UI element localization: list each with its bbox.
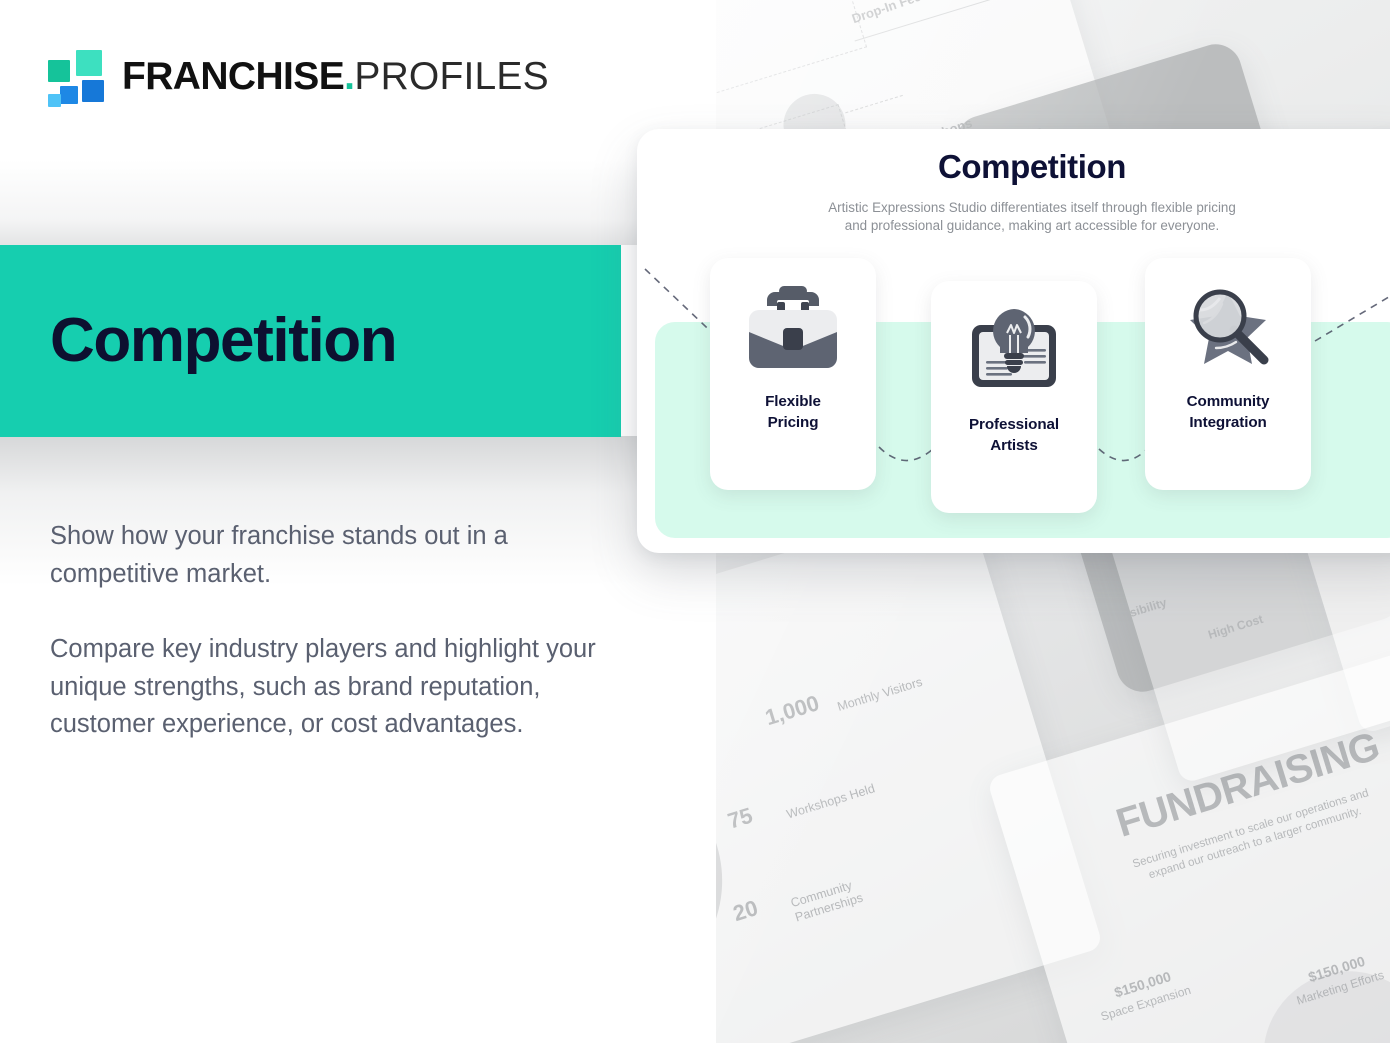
section-banner: Competition — [0, 245, 621, 437]
banner-top-shadow — [0, 160, 716, 245]
feature-label: Professional Artists — [955, 414, 1073, 456]
description-block: Show how your franchise stands out in a … — [50, 518, 620, 744]
ghost-label: High Cost — [1206, 612, 1264, 642]
feature-label: Flexible Pricing — [739, 391, 847, 433]
square-teal-small — [48, 60, 70, 82]
briefcase-icon — [741, 280, 845, 381]
brand-name-light: PROFILES — [354, 57, 549, 96]
feature-card-professional-artists[interactable]: Professional Artists — [931, 281, 1097, 513]
lightbulb-board-icon — [962, 303, 1066, 404]
preview-subtitle: Artistic Expressions Studio differentiat… — [817, 199, 1247, 234]
preview-title: Competition — [637, 148, 1390, 186]
brand-logo: FRANCHISE.PROFILES — [48, 45, 549, 107]
brand-name-bold: FRANCHISE — [122, 57, 344, 96]
feature-card-flexible-pricing[interactable]: Flexible Pricing — [710, 258, 876, 490]
square-blue-large — [82, 80, 104, 102]
ghost-stat-label: Monthly Visitors — [836, 675, 924, 714]
ghost-stat-label: Workshops Held — [785, 781, 877, 821]
feature-card-community-integration[interactable]: Community Integration — [1145, 258, 1311, 490]
ghost-label: Drop-In Fees — [850, 0, 930, 26]
ghost-stat-value: 20 — [730, 895, 761, 927]
page-title: Competition — [50, 310, 396, 372]
description-paragraph-1: Show how your franchise stands out in a … — [50, 518, 620, 593]
square-lightblue — [48, 94, 61, 107]
square-mint-large — [76, 50, 102, 76]
ghost-stat-value: 75 — [725, 803, 756, 835]
description-paragraph-2: Compare key industry players and highlig… — [50, 631, 620, 744]
slide-preview-card[interactable]: Competition Artistic Expressions Studio … — [637, 129, 1390, 553]
ghost-stat-label: Community Partnerships — [789, 870, 884, 925]
brand-name-dot: . — [344, 57, 354, 96]
square-blue-mid — [60, 86, 78, 104]
feature-label: Community Integration — [1164, 391, 1292, 433]
logo-mark-icon — [48, 50, 108, 102]
brand-wordmark: FRANCHISE.PROFILES — [122, 57, 549, 96]
slide-canvas: Drop-In Fees Session Workshops Commissio… — [0, 0, 1390, 1043]
ghost-stat-value: 1,000 — [762, 690, 822, 731]
magnifier-star-icon — [1176, 280, 1280, 381]
